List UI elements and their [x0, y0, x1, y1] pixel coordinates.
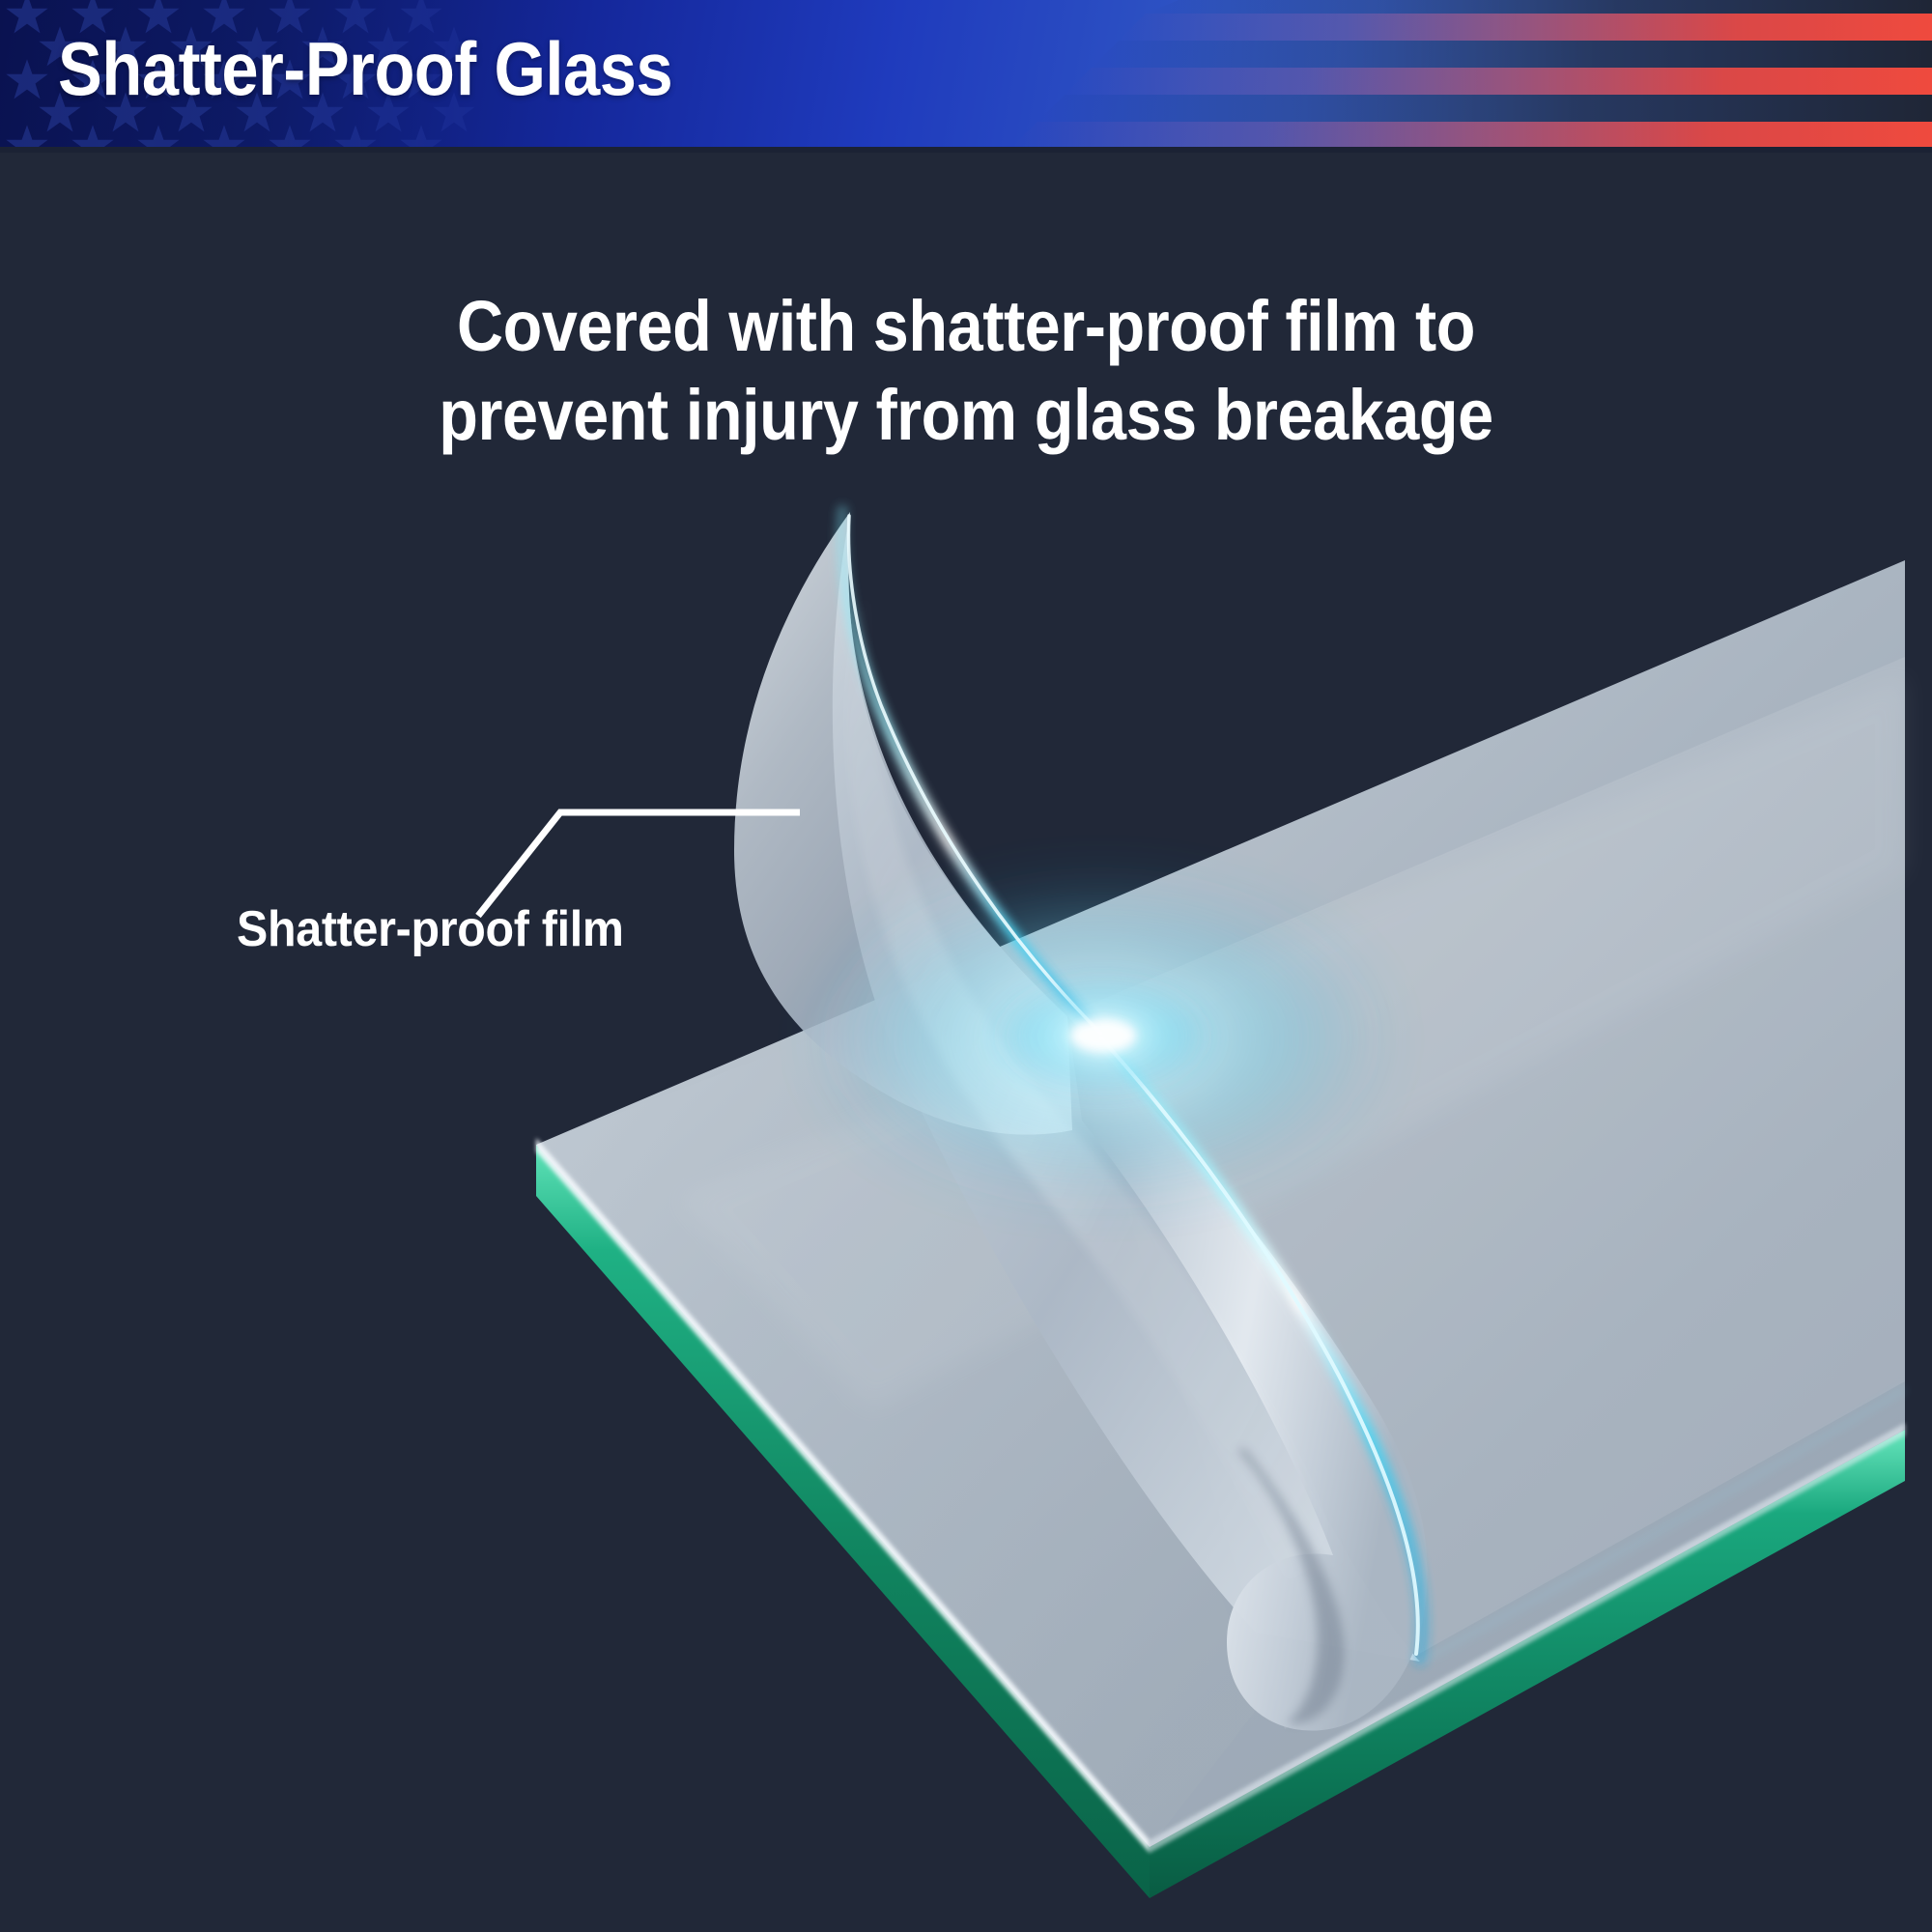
infographic-page: Shatter-Proof Glass Covered with shatter…: [0, 0, 1932, 1932]
page-title: Shatter-Proof Glass: [58, 31, 672, 106]
glass-film-illustration: [0, 153, 1932, 1932]
flag-stripes-icon: [850, 0, 1932, 153]
film-glow-core: [1070, 1019, 1136, 1052]
callout-label: Shatter-proof film: [237, 900, 624, 958]
header-banner: Shatter-Proof Glass: [0, 0, 1932, 153]
